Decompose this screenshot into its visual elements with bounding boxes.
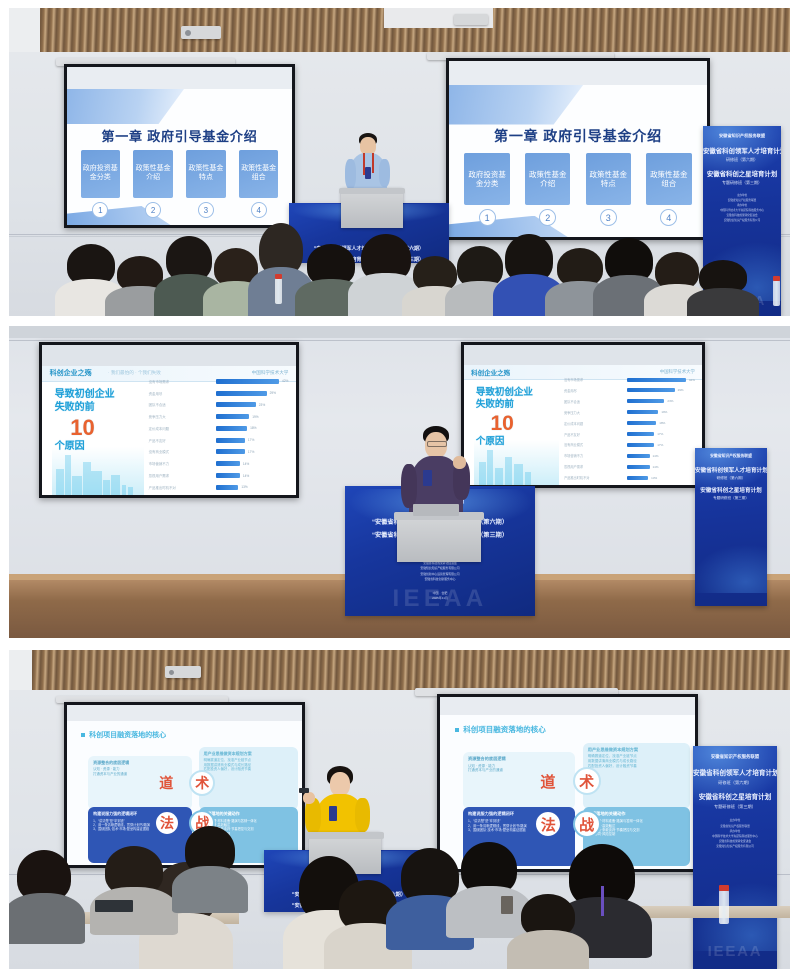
skyline-building — [111, 475, 120, 495]
lectern — [397, 512, 481, 562]
banner-sub-2: 专题研修班（第三期） — [703, 180, 781, 186]
slide-title-text: 科创项目融资落地的核心 — [463, 725, 546, 734]
chart-bar — [216, 414, 249, 419]
banner-swoosh — [695, 538, 767, 593]
presenter-lanyard — [372, 153, 374, 173]
chart-row-label: 没有商业模式 — [149, 449, 213, 454]
banner-small-line: 安徽知信知识产权服务有限公司 — [716, 845, 754, 848]
chart-row: 市场营销不力14% — [564, 453, 695, 458]
quadrant-heading: 资源整合的底层逻辑 — [93, 760, 187, 765]
projection-screen-left: 科创企业之殇 · 我们最怕的 · 个我们失败 中国科学技术大学 导致初创企业 失… — [39, 342, 299, 498]
slide-card-number: 4 — [660, 209, 677, 226]
chart-row-bar: 17% — [627, 443, 695, 447]
chart-row-bar: 13% — [216, 485, 288, 490]
backdrop-watermark: IEEAA — [345, 585, 535, 613]
chart-row: 产品不友好17% — [564, 432, 695, 437]
slide-card: 政府投资基金分类 1 — [81, 150, 121, 218]
slide-card-text: 政策性基金介绍 — [525, 153, 570, 205]
chart-row-pct: 17% — [248, 450, 254, 454]
quadrant-heading: 用产业思维做资本规划方案 — [588, 747, 685, 753]
chart-row: 没有商业模式17% — [564, 442, 695, 447]
banner-watermark: IEEAA — [693, 943, 777, 960]
chart-bar — [627, 399, 664, 403]
banner-title-1: 安徽省科创领军人才培育计划 — [693, 767, 777, 777]
slide-card-number: 3 — [198, 202, 214, 218]
banner-org: 安徽省知识产权服务联盟 — [703, 133, 781, 139]
chart-row-bar: 17% — [216, 438, 288, 443]
chart-row-pct: 17% — [657, 432, 663, 436]
chart-row-pct: 23% — [667, 399, 673, 403]
lectern-top — [339, 188, 406, 194]
slide-card-text: 政策性基金特点 — [186, 150, 226, 198]
presenter-arm-left — [401, 464, 417, 508]
chart-row-pct: 14% — [653, 454, 659, 458]
slide-city-skyline — [52, 438, 143, 495]
slide-university-logo: 中国科学技术大学 — [660, 369, 695, 375]
audience-shoulders — [687, 288, 760, 316]
handheld-microphone — [329, 806, 337, 821]
bottle-cap — [719, 885, 729, 890]
ceiling-projector — [165, 666, 201, 678]
chart-row-pct: 14% — [243, 474, 249, 478]
banner-small-line: 中国科学技术大学先研院科技服务中心 — [712, 835, 758, 838]
chart-row-pct: 14% — [243, 462, 249, 466]
slide-card: 政策性基金组合 4 — [646, 153, 691, 226]
presenter-arm-left — [345, 159, 356, 189]
banner-title-2: 安徽省科创之星培育计划 — [693, 791, 777, 801]
chart-bar — [627, 421, 656, 425]
banner-org: 安徽省知识产权服务联盟 — [695, 454, 767, 459]
chart-row-label: 产品推出时机不对 — [564, 475, 624, 480]
backdrop-small-line: 安徽知信知识产权服务有限公司 — [420, 566, 459, 570]
photo-collage: 第一章 政府引导基金介绍 政府投资基金分类 1 政策性基金介绍 2 政策性基金特… — [0, 0, 799, 977]
banner-sub-1: 研修班（第六期） — [703, 157, 781, 163]
chart-row-bar: 19% — [627, 410, 695, 414]
chart-bar — [216, 473, 240, 478]
chart-row-pct: 17% — [657, 443, 663, 447]
slide-card: 政策性基金组合 4 — [239, 150, 279, 218]
chart-row-label: 定价成本问题 — [149, 426, 213, 431]
chart-row-label: 团队不合适 — [149, 402, 213, 407]
audience-shoulders — [172, 866, 248, 913]
chart-row-bar: 18% — [216, 426, 288, 431]
photo-panel-2: 科创企业之殇 · 我们最怕的 · 个我们失败 中国科学技术大学 导致初创企业 失… — [9, 326, 790, 638]
banner-small-line: 安徽省知识产权服务联盟 — [728, 199, 757, 202]
quadrant-heading: 资源整合的底层逻辑 — [468, 756, 570, 762]
presenter-hand — [303, 792, 315, 804]
chart-bar — [627, 378, 686, 382]
headline-number: 10 — [490, 413, 556, 434]
slide-title: 第一章 政府引导基金介绍 — [449, 126, 707, 146]
chart-bar — [216, 449, 245, 454]
slide-title: 第一章 政府引导基金介绍 — [67, 126, 292, 145]
chart-row-bar: 14% — [627, 465, 695, 469]
slide-card-number: 1 — [479, 209, 496, 226]
slide-card: 政府投资基金分类 1 — [464, 153, 509, 226]
chart-row-bar: 29% — [216, 391, 288, 396]
headline-line-1: 导致初创企业 — [476, 387, 533, 398]
banner-small-text: 主办单位 安徽省知识产权服务联盟 承办单位 中国科学技术大学先研院科技服务中心 … — [703, 194, 781, 224]
banner-small-line: 主办单位 — [730, 819, 741, 822]
ceiling-tile — [9, 8, 40, 56]
banner-org: 安徽省知识产权服务联盟 — [693, 754, 777, 760]
ceiling-panel-3 — [9, 650, 790, 694]
chart-row: 产品不友好17% — [149, 438, 289, 443]
banner-sub-2: 专题研修班（第三期） — [693, 804, 777, 810]
quadrant-glyph-shu: 术 — [573, 767, 601, 795]
chart-row-label: 资金用尽 — [564, 388, 624, 393]
photo-panel-1: 第一章 政府引导基金介绍 政府投资基金分类 1 政策性基金介绍 2 政策性基金特… — [9, 8, 790, 316]
presenter-head — [330, 772, 350, 796]
chart-row-bar: 14% — [216, 473, 288, 478]
projector-lens — [169, 670, 174, 675]
chart-row: 忽视用户需求14% — [149, 473, 289, 478]
skyline-building — [487, 450, 493, 485]
slide-bar-chart: 没有市场需求42% 资金用尽29% 团队不合适23% 竞争压力大19% 定价成本… — [564, 377, 695, 480]
chart-row: 市场营销不力14% — [149, 461, 289, 466]
chart-row-pct: 13% — [651, 476, 657, 480]
slide-card: 政策性基金介绍 2 — [133, 150, 173, 218]
chart-bar — [627, 476, 648, 480]
banner-title-2: 安徽省科创之星培育计划 — [703, 169, 781, 178]
chart-row-label: 产品推出时机不对 — [149, 485, 213, 490]
bottle-cap — [773, 276, 780, 280]
banner-title-1: 安徽省科创领军人才培育计划 — [695, 466, 767, 474]
skyline-building — [525, 472, 531, 485]
banner-sub-1: 研修班（第六期） — [693, 780, 777, 786]
chart-row-pct: 42% — [689, 378, 695, 382]
lectern-top — [306, 832, 384, 839]
chart-row: 定价成本问题18% — [149, 426, 289, 431]
chart-row-label: 团队不合适 — [564, 399, 624, 404]
chart-row-bar: 14% — [216, 461, 288, 466]
chart-row: 资金用尽29% — [149, 391, 289, 396]
audience-member — [699, 260, 747, 316]
quadrant-glyph-dao: 道 — [156, 773, 176, 793]
chart-row-pct: 42% — [282, 379, 288, 383]
screen-surface: 第一章 政府引导基金介绍 政府投资基金分类 1 政策性基金介绍 2 政策性基金特… — [67, 67, 292, 225]
chart-row-pct: 19% — [252, 415, 258, 419]
chart-row: 团队不合适23% — [149, 402, 289, 407]
audience-member — [185, 826, 235, 910]
chart-bar — [627, 454, 649, 458]
banner-small-line: 安徽省科技成果转化促进会 — [719, 840, 751, 843]
chart-row-pct: 18% — [250, 426, 256, 430]
skyline-building — [122, 485, 127, 495]
quadrant-heading: 融资落地的关键动作 — [204, 811, 293, 816]
photo-panel-3: 科创项目融资落地的核心 资源整合的底层逻辑 认知 · 资源 · 能力 打通资本与… — [9, 650, 790, 969]
chart-row: 忽视用户需求14% — [564, 464, 695, 469]
quadrant-line: 匹配投资人偏好，设计融资节奏 — [588, 764, 685, 769]
banner-sub-1: 研修班（第六期） — [695, 476, 767, 481]
screen-top-bar — [42, 345, 296, 366]
slide-header-title: 科创企业之殇 — [471, 367, 510, 377]
slide-startup-failure: 科创企业之殇 · 我们最怕的 · 个我们失败 中国科学技术大学 导致初创企业 失… — [42, 366, 296, 495]
chart-row-pct: 17% — [248, 438, 254, 442]
quadrant-heading: 融资落地的关键动作 — [588, 811, 685, 817]
slide-header-sub: · 我们最怕的 · 个我们失败 — [108, 370, 161, 376]
chart-bar — [627, 410, 658, 414]
skyline-building — [65, 455, 71, 495]
banner-small-line: 承办单位 — [730, 830, 741, 833]
slide-card-text: 政策性基金组合 — [646, 153, 691, 205]
slide-card-number: 2 — [539, 209, 556, 226]
chart-bar — [627, 443, 654, 447]
audience-shoulders — [507, 930, 589, 969]
water-bottle — [719, 890, 729, 924]
skyline-building — [479, 462, 487, 485]
chart-row-pct: 13% — [241, 485, 247, 489]
skyline-building — [56, 469, 64, 495]
chart-bar — [216, 426, 247, 431]
skyline-building — [91, 471, 102, 495]
chart-row-bar: 18% — [627, 421, 695, 425]
slide-government-fund: 第一章 政府引导基金介绍 政府投资基金分类 1 政策性基金介绍 2 政策性基金特… — [449, 85, 707, 237]
bottle-cap — [275, 274, 282, 278]
chart-row-label: 没有市场需求 — [564, 377, 624, 382]
ceiling-projector — [454, 14, 488, 25]
headline-line-2: 失败的前 — [476, 399, 514, 410]
handheld-microphone — [423, 470, 432, 486]
chart-row-label: 市场营销不力 — [564, 453, 624, 458]
slide-card: 政策性基金介绍 2 — [525, 153, 570, 226]
banner-small-text: 主办单位 安徽省知识产权服务联盟 承办单位 中国科学技术大学先研院科技服务中心 … — [693, 818, 777, 849]
projection-screen-right: 第一章 政府引导基金介绍 政府投资基金分类 1 政策性基金介绍 2 政策性基金特… — [446, 58, 710, 240]
chart-row: 资金用尽29% — [564, 388, 695, 393]
rollup-banner: 安徽省知识产权服务联盟 安徽省科创领军人才培育计划 研修班（第六期） 安徽省科创… — [693, 746, 777, 969]
chart-bar — [216, 402, 256, 407]
chart-bar — [216, 379, 279, 384]
chart-row-bar: 14% — [627, 454, 695, 458]
skyline-building — [495, 468, 504, 485]
screen-surface: 第一章 政府引导基金介绍 政府投资基金分类 1 政策性基金介绍 2 政策性基金特… — [449, 61, 707, 237]
quadrant-glyph-shu: 术 — [189, 770, 215, 796]
bullet-icon — [455, 728, 459, 732]
chart-row-label: 资金用尽 — [149, 391, 213, 396]
slide-title-text: 科创项目融资落地的核心 — [89, 732, 166, 739]
slide-decoration-top — [449, 85, 583, 125]
screen-top-bar — [449, 61, 707, 85]
banner-small-line: 安徽省科技成果转化促进会 — [726, 214, 757, 217]
slide-city-skyline — [474, 432, 560, 485]
banner-title-2: 安徽省科创之星培育计划 — [695, 486, 767, 494]
projection-screen-left: 第一章 政府引导基金介绍 政府投资基金分类 1 政策性基金介绍 2 政策性基金特… — [64, 64, 295, 228]
presenter-arm-right — [355, 798, 370, 832]
audience-shoulders — [446, 886, 531, 938]
chart-row-pct: 18% — [659, 421, 665, 425]
banner-small-line: 中国科学技术大学先研院科技服务中心 — [720, 209, 764, 212]
banner-small-line: 安徽省知识产权服务联盟 — [720, 825, 750, 828]
slide-bar-chart: 没有市场需求42% 资金用尽29% 团队不合适23% 竞争压力大19% 定价成本… — [149, 379, 289, 490]
audience-member — [461, 842, 517, 934]
audience-member — [521, 894, 575, 969]
ceiling-panel-2 — [9, 326, 790, 338]
skyline-building — [83, 462, 90, 495]
presenter-arm-right — [379, 159, 390, 187]
slide-quadrant-top-left: 资源整合的底层逻辑 认知 · 资源 · 能力 打通资本与产业的通道 — [88, 756, 192, 810]
screen-top-bar — [464, 345, 702, 365]
chart-row-bar: 23% — [627, 399, 695, 403]
backdrop-small-line: 安徽创新中心运营管理有限公司 — [420, 572, 459, 576]
chart-row: 定价成本问题18% — [564, 421, 695, 426]
chart-row-label: 竞争压力大 — [564, 410, 624, 415]
slide-government-fund: 第一章 政府引导基金介绍 政府投资基金分类 1 政策性基金介绍 2 政策性基金特… — [67, 89, 292, 225]
chart-row-pct: 19% — [661, 410, 667, 414]
chart-row-label: 没有商业模式 — [564, 442, 624, 447]
chart-row-label: 忽视用户需求 — [564, 464, 624, 469]
slide-card-row: 政府投资基金分类 1 政策性基金介绍 2 政策性基金特点 3 政策性基金组合 — [81, 150, 279, 218]
chart-row: 没有市场需求42% — [564, 377, 695, 382]
audience-member — [17, 850, 71, 940]
screen-top-bar — [67, 67, 292, 89]
audience-member — [105, 846, 163, 932]
slide-card-number: 4 — [251, 202, 267, 218]
chart-row-bar: 13% — [627, 476, 695, 480]
drink-cup — [501, 896, 513, 914]
chart-row: 产品推出时机不对13% — [149, 485, 289, 490]
lectern — [341, 188, 403, 228]
skyline-building — [103, 480, 109, 495]
banner-title-1: 安徽省科创领军人才培育计划 — [703, 146, 781, 155]
chart-row-pct: 29% — [270, 391, 276, 395]
screen-surface: 科创企业之殇 · 我们最怕的 · 个我们失败 中国科学技术大学 导致初创企业 失… — [42, 345, 296, 495]
presenter-glasses — [427, 441, 447, 447]
slide-card-text: 政策性基金特点 — [586, 153, 631, 205]
water-bottle — [773, 280, 780, 306]
slide-header-title: 科创企业之殇 — [50, 368, 92, 378]
chart-bar — [627, 388, 674, 392]
chart-row: 竞争压力大19% — [149, 414, 289, 419]
chart-bar — [216, 461, 240, 466]
chart-row-label: 忽视用户需求 — [149, 473, 213, 478]
chart-bar — [627, 465, 649, 469]
chart-row-pct: 14% — [653, 465, 659, 469]
skyline-building — [128, 487, 133, 495]
audience-shoulders — [9, 893, 85, 943]
slide-decoration-top — [67, 89, 184, 124]
banner-small-line: 主办单位 — [737, 194, 747, 197]
headline-number: 10 — [70, 417, 141, 439]
chart-row-pct: 29% — [678, 388, 684, 392]
chart-row-label: 定价成本问题 — [564, 421, 624, 426]
chart-row: 没有市场需求42% — [149, 379, 289, 384]
ceiling-projector — [181, 26, 221, 39]
quadrant-heading: 用产业思维做资本规划方案 — [204, 751, 293, 756]
chart-row-bar: 19% — [216, 414, 288, 419]
ceiling-panel-1 — [9, 8, 790, 56]
chart-row: 没有商业模式17% — [149, 449, 289, 454]
slide-card-text: 政府投资基金分类 — [464, 153, 509, 205]
slide-card-text: 政策性基金介绍 — [133, 150, 173, 198]
chart-row-bar: 42% — [216, 379, 288, 384]
chart-row-bar: 17% — [627, 432, 695, 436]
chart-row-bar: 23% — [216, 402, 288, 407]
screen-top-bar — [67, 705, 302, 721]
clicker-remote — [299, 788, 309, 793]
screen-surface: 科创企业之殇 中国科学技术大学 导致初创企业 失败的前 10 个原因 — [464, 345, 702, 485]
slide-card: 政策性基金特点 3 — [586, 153, 631, 226]
slide-card-row: 政府投资基金分类 1 政策性基金介绍 2 政策性基金特点 3 政策性基金组合 — [464, 153, 691, 226]
presenter-hand — [453, 456, 466, 469]
slide-card-text: 政策性基金组合 — [239, 150, 279, 198]
headline-line-2: 失败的前 — [55, 402, 95, 413]
slide-university-logo: 中国科学技术大学 — [252, 370, 289, 376]
screen-top-bar — [440, 697, 695, 715]
slide-card-number: 2 — [145, 202, 161, 218]
quadrant-glyph-zhan: 战 — [573, 810, 601, 838]
slide-card-number: 3 — [600, 209, 617, 226]
slide-card-text: 政府投资基金分类 — [81, 150, 121, 198]
chart-row-label: 市场营销不力 — [149, 461, 213, 466]
skyline-building — [72, 476, 82, 495]
skyline-building — [514, 464, 523, 485]
quadrant-line: 匹配投资人偏好，设计融资节奏 — [204, 767, 293, 772]
banner-small-line: 安徽知信知识产权服务有限公司 — [724, 219, 760, 222]
chart-row: 产品推出时机不对13% — [564, 475, 695, 480]
chart-row-bar: 42% — [627, 378, 695, 382]
projection-screen-right: 科创企业之殇 中国科学技术大学 导致初创企业 失败的前 10 个原因 — [461, 342, 705, 488]
chart-row-label: 没有市场需求 — [149, 379, 213, 384]
wall-trim — [9, 340, 790, 341]
slide-title: 科创项目融资落地的核心 — [455, 724, 546, 735]
headline-line-1: 导致初创企业 — [55, 389, 115, 400]
laptop — [95, 900, 133, 912]
banner-small-line: 承办单位 — [737, 204, 747, 207]
slide-card-number: 1 — [92, 202, 108, 218]
slide-title: 科创项目融资落地的核心 — [81, 730, 166, 740]
audience-lanyard — [601, 886, 604, 916]
water-bottle — [275, 278, 282, 304]
slide-startup-failure: 科创企业之殇 中国科学技术大学 导致初创企业 失败的前 10 个原因 — [464, 365, 702, 485]
chart-row-bar: 29% — [627, 388, 695, 392]
chart-bar — [627, 432, 654, 436]
chart-row-label: 竞争压力大 — [149, 414, 213, 419]
rollup-banner: 安徽省知识产权服务联盟 安徽省科创领军人才培育计划 研修班（第六期） 安徽省科创… — [695, 448, 767, 606]
quadrant-line: 团队协同·风险控制 — [588, 832, 685, 836]
chart-row: 团队不合适23% — [564, 399, 695, 404]
chart-row-pct: 23% — [259, 403, 265, 407]
chart-row-label: 产品不友好 — [149, 438, 213, 443]
ceiling-tile — [9, 326, 790, 338]
chart-bar — [216, 485, 238, 490]
banner-sub-2: 专题研修班（第三期） — [695, 496, 767, 501]
slide-card: 政策性基金特点 3 — [186, 150, 226, 218]
laptop — [413, 504, 459, 516]
skyline-building — [505, 457, 512, 486]
backdrop-small-line: 安徽省科技创新服务中心 — [425, 577, 456, 581]
projector-lens — [185, 30, 191, 36]
chart-bar — [216, 438, 245, 443]
chart-row-bar: 17% — [216, 449, 288, 454]
handheld-microphone — [365, 167, 371, 179]
ceiling-slats — [9, 650, 790, 694]
bullet-icon — [81, 733, 85, 737]
chart-row: 竞争压力大19% — [564, 410, 695, 415]
ceiling-tile — [9, 650, 32, 694]
chart-bar — [216, 391, 267, 396]
chart-row-label: 产品不友好 — [564, 432, 624, 437]
